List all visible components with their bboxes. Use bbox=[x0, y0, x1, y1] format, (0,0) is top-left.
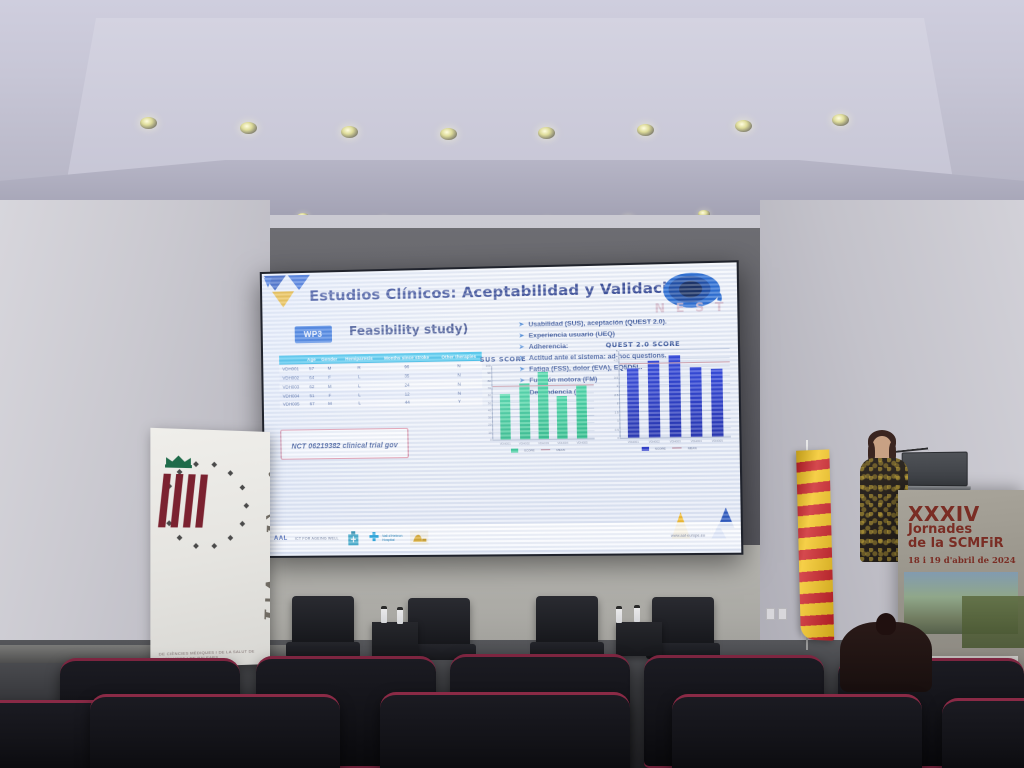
table-cell: 44 bbox=[378, 398, 437, 408]
participants-table: AgeGenderHemiparesisMonths since strokeO… bbox=[279, 352, 482, 409]
quest-score-chart: QUEST 2.0 SCORE 00.511.522.533.544.55 VD… bbox=[606, 339, 732, 451]
y-axis-tick-label: 40 bbox=[488, 408, 491, 412]
ceiling-light-icon bbox=[538, 127, 555, 139]
y-axis-tick-label: 2.5 bbox=[614, 393, 618, 397]
chart-bar bbox=[690, 367, 703, 437]
nct-trial-text: NCT 06219382 clinical trial gov bbox=[291, 442, 397, 450]
bullet-text: Experiencia usuario (UEQ) bbox=[529, 330, 615, 341]
aal-logo: AAL bbox=[274, 536, 288, 542]
table-cell: VDH005 bbox=[280, 400, 306, 409]
hospital-name-line2: Hospital bbox=[382, 538, 402, 542]
hospital-building-icon bbox=[346, 530, 360, 546]
table-cell: VDH004 bbox=[280, 391, 306, 400]
wall-socket bbox=[766, 608, 775, 620]
x-axis-tick-label: VDH005 bbox=[577, 440, 588, 444]
audience-seat bbox=[942, 698, 1024, 768]
podium-title-line3: de la SCMFiR bbox=[908, 537, 1004, 551]
arrow-bullet-icon: ➤ bbox=[519, 343, 525, 352]
table-cell: 51 bbox=[305, 391, 318, 400]
slide-page-number: 19 bbox=[710, 528, 716, 534]
y-axis-tick-label: 20 bbox=[488, 423, 491, 427]
ceiling-light-icon bbox=[735, 120, 752, 132]
chart-bar bbox=[669, 355, 682, 437]
chart-bar bbox=[576, 385, 587, 439]
table-header-cell: Gender bbox=[318, 354, 341, 364]
audience-seat bbox=[672, 694, 922, 768]
legend-label-mean: MEAN bbox=[556, 447, 565, 451]
table-cell: 64 bbox=[305, 373, 318, 382]
ceiling-light-icon bbox=[637, 124, 654, 136]
y-axis-tick-label: 2 bbox=[617, 401, 619, 405]
wp3-badge: WP3 bbox=[295, 326, 332, 344]
slide-footer-logos: AAL ICT FOR AGEING WELL Vall d'Hebron Ho… bbox=[266, 522, 741, 552]
wall-socket bbox=[778, 608, 787, 620]
table-body: VDH00157MR96NVDH00264FL35NVDH00362ML24NV… bbox=[279, 361, 482, 409]
y-axis-tick-label: 10 bbox=[488, 430, 491, 434]
y-axis-tick-label: 3.5 bbox=[614, 375, 618, 379]
y-axis-tick-label: 30 bbox=[488, 416, 491, 420]
table-header-cell: Age bbox=[305, 355, 318, 365]
legend-label-score: SCORE bbox=[655, 446, 666, 450]
table-cell: M bbox=[318, 364, 341, 373]
ceiling-light-icon bbox=[832, 114, 849, 126]
chart-bar bbox=[519, 384, 530, 440]
y-axis-tick-label: 100 bbox=[486, 364, 491, 368]
academia-banner: L'Acadèmia DE CIÈNCIES MÈDIQUES I DE LA … bbox=[150, 428, 270, 668]
y-axis-tick-label: 1 bbox=[617, 419, 619, 423]
ceiling-light-icon bbox=[440, 128, 457, 140]
catalan-bars-emblem bbox=[161, 474, 205, 528]
stage-armchair bbox=[536, 596, 598, 648]
y-axis-tick-label: 3 bbox=[617, 384, 619, 388]
section-heading: Feasibility study) bbox=[349, 322, 468, 339]
water-bottle bbox=[397, 607, 403, 624]
x-axis-tick-label: VDH004 bbox=[557, 441, 568, 445]
chart-bar bbox=[500, 394, 511, 440]
ceiling-light-icon bbox=[140, 117, 157, 129]
y-axis-tick-label: 60 bbox=[488, 393, 491, 397]
table-cell: M bbox=[319, 399, 342, 408]
podium-title-main: Jornades de la SCMFiR bbox=[908, 523, 1004, 551]
water-bottle bbox=[381, 606, 387, 623]
generalitat-logo-icon bbox=[409, 531, 428, 545]
sus-score-chart: SUS SCORE 0102030405060708090100 VDH001V… bbox=[480, 354, 595, 453]
legend-label-mean: MEAN bbox=[688, 446, 697, 450]
x-axis-tick-label: VDH001 bbox=[500, 442, 511, 446]
legend-label-score: SCORE bbox=[524, 448, 535, 452]
y-axis-tick-label: 50 bbox=[488, 401, 491, 405]
chart-bar bbox=[538, 372, 550, 439]
table-cell: Y bbox=[437, 397, 483, 407]
stage-side-table bbox=[372, 622, 418, 656]
table-cell: VDH003 bbox=[279, 382, 305, 391]
legend-swatch-score bbox=[511, 448, 518, 452]
chart-bars bbox=[492, 364, 594, 440]
vall-hebron-logo: Vall d'Hebron Hospital bbox=[367, 531, 403, 545]
x-axis-tick-label: VDH001 bbox=[627, 440, 639, 444]
arrow-bullet-icon: ➤ bbox=[518, 320, 524, 329]
cross-icon bbox=[367, 531, 380, 545]
chart-bar bbox=[648, 361, 661, 438]
audience-person-head bbox=[876, 613, 896, 635]
y-axis-tick-label: 0 bbox=[490, 438, 492, 442]
legend-line-mean bbox=[541, 449, 550, 450]
table-cell: 62 bbox=[305, 382, 318, 391]
bullet-text: Usabilidad (SUS), aceptación (QUEST 2.0)… bbox=[528, 317, 667, 329]
ceiling-light-icon bbox=[240, 122, 257, 134]
nest-wordmark: N E S T bbox=[654, 300, 726, 316]
senyera-catalan-flag bbox=[796, 449, 834, 640]
table-cell: L bbox=[341, 399, 378, 408]
nct-trial-box: NCT 06219382 clinical trial gov bbox=[280, 428, 409, 460]
x-axis-tick-label: VDH005 bbox=[711, 439, 723, 443]
y-axis-tick-label: 5 bbox=[616, 349, 618, 353]
y-axis-tick-label: 90 bbox=[487, 371, 490, 375]
table-header-cell bbox=[279, 355, 305, 365]
stage-side-table bbox=[616, 622, 662, 656]
chart-legend: SCORE MEAN bbox=[481, 447, 595, 453]
chart-bar bbox=[627, 368, 639, 438]
ceiling-light-icon bbox=[341, 126, 358, 138]
chart-legend: SCORE MEAN bbox=[607, 445, 731, 451]
table-cell: F bbox=[319, 390, 342, 399]
legend-swatch-score bbox=[641, 446, 648, 450]
y-axis-tick-label: 0.5 bbox=[615, 427, 619, 431]
chart-bar bbox=[710, 368, 723, 436]
table-cell: M bbox=[318, 382, 341, 391]
y-axis-tick-label: 0 bbox=[617, 436, 619, 440]
arrow-bullet-icon: ➤ bbox=[518, 332, 524, 341]
water-bottle bbox=[616, 606, 622, 623]
x-axis-tick-label: VDH003 bbox=[669, 439, 681, 443]
x-axis-tick-label: VDH004 bbox=[690, 439, 702, 443]
y-axis-tick-label: 70 bbox=[488, 386, 491, 390]
crown-icon bbox=[165, 453, 206, 468]
x-axis-tick-label: VDH002 bbox=[519, 441, 530, 445]
y-axis-tick-label: 80 bbox=[488, 379, 491, 383]
auditorium-photo: Estudios Clínicos: Aceptabilidad y Valid… bbox=[0, 0, 1024, 768]
y-axis-tick-label: 4 bbox=[616, 366, 618, 370]
table-cell: F bbox=[318, 373, 341, 382]
bullet-text: Adherencia: bbox=[529, 342, 569, 352]
aal-url: www.aal-europe.eu bbox=[671, 533, 705, 537]
right-wall-poster bbox=[962, 596, 1024, 648]
chart-bar bbox=[557, 396, 568, 439]
podium-date: 18 i 19 d'abril de 2024 bbox=[908, 556, 1016, 566]
water-bottle bbox=[634, 605, 640, 622]
x-axis-tick-label: VDH002 bbox=[648, 439, 660, 443]
slide-title: Estudios Clínicos: Aceptabilidad y Valid… bbox=[309, 280, 689, 305]
stage-armchair bbox=[292, 596, 354, 648]
presentation-slide: Estudios Clínicos: Aceptabilidad y Valid… bbox=[262, 262, 742, 556]
audience-seat bbox=[90, 694, 340, 768]
podium-title-line2: Jornades bbox=[908, 523, 1004, 537]
audience-person bbox=[840, 622, 932, 692]
x-axis-tick-label: VDH003 bbox=[538, 441, 549, 445]
table-cell: 57 bbox=[305, 364, 318, 373]
projection-screen: Estudios Clínicos: Aceptabilidad y Valid… bbox=[260, 260, 744, 558]
aal-tagline: ICT FOR AGEING WELL bbox=[295, 536, 339, 540]
audience-seat bbox=[380, 692, 630, 768]
y-axis-tick-label: 1.5 bbox=[614, 410, 618, 414]
y-axis-tick-label: 4.5 bbox=[614, 358, 618, 362]
legend-line-mean bbox=[672, 447, 681, 448]
table-cell: 67 bbox=[305, 400, 318, 409]
